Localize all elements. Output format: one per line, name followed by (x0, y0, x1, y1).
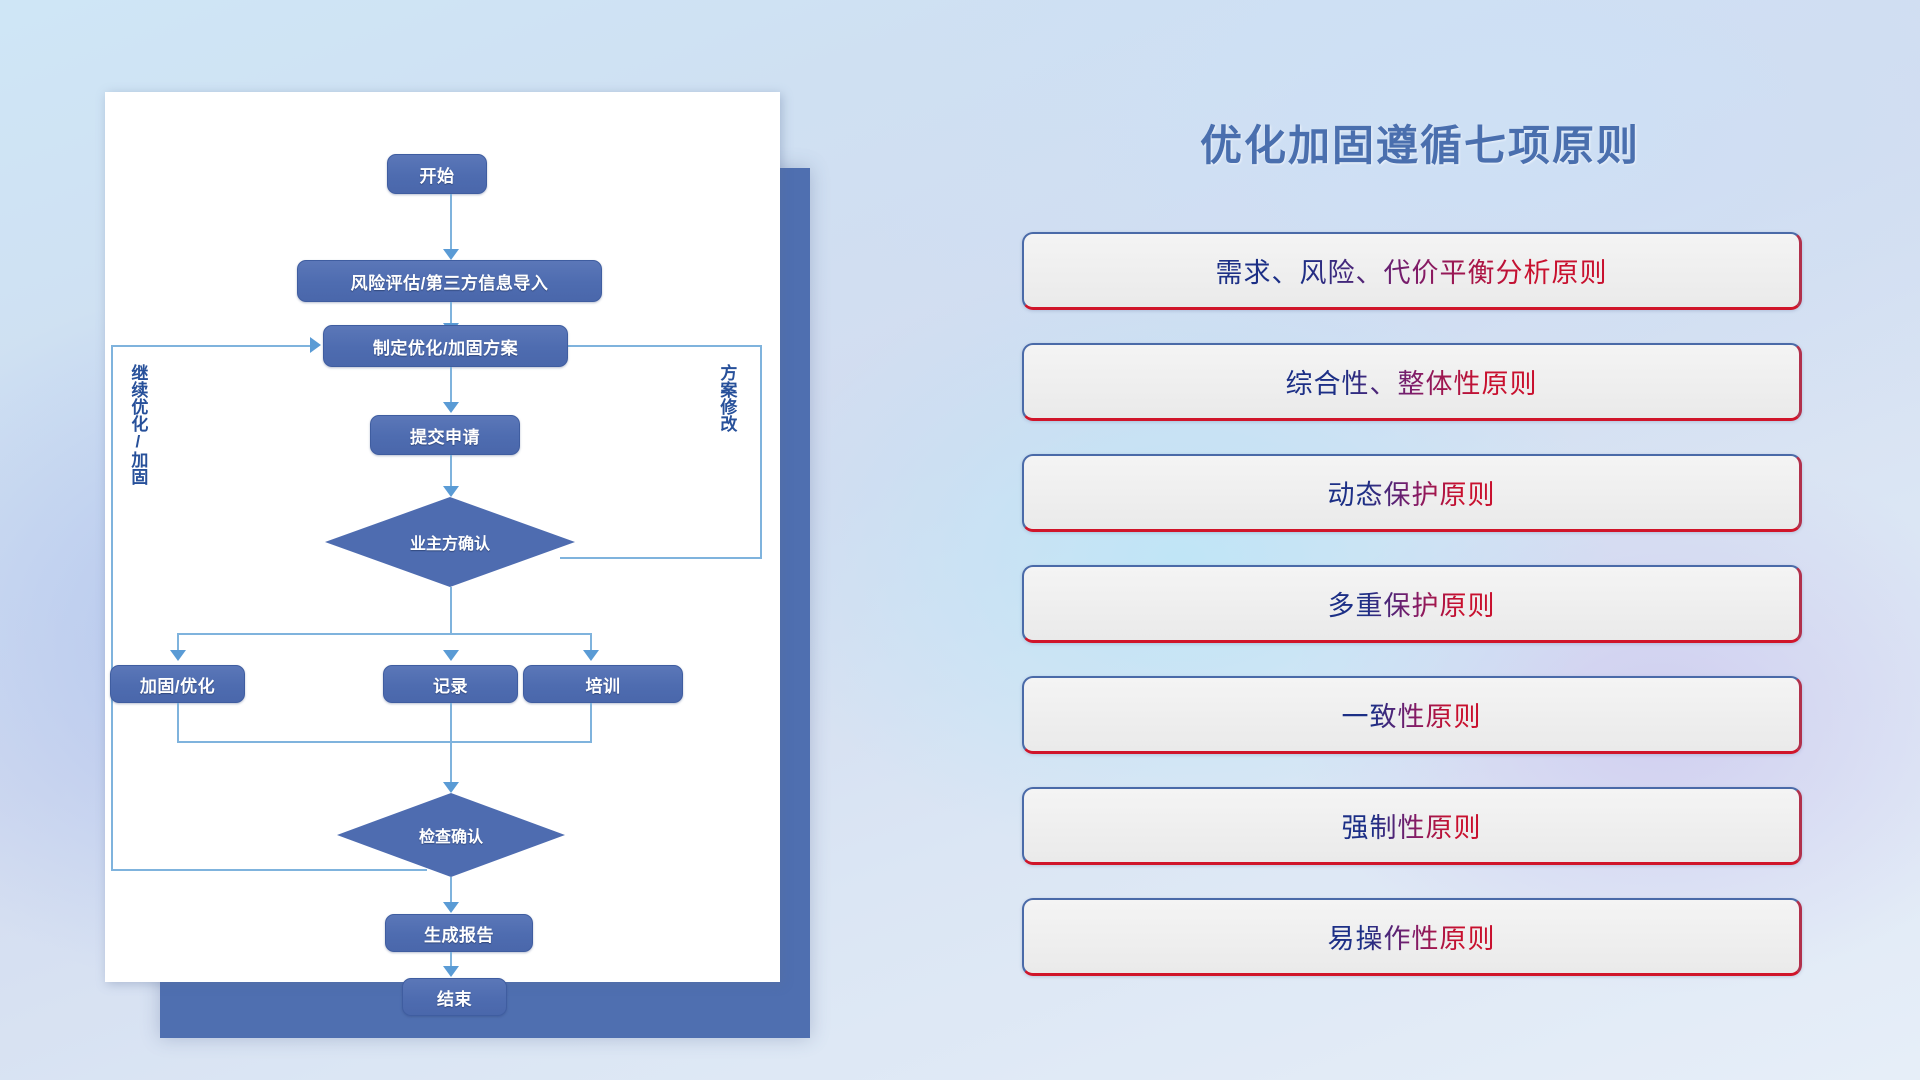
loop-right-top-line (567, 345, 762, 347)
merge-left-rise (177, 703, 179, 743)
node-training[interactable]: 培训 (523, 665, 683, 703)
edge-confirm-down (450, 587, 452, 635)
loop-right-vertical-line (760, 345, 762, 559)
principle-label: 动态保护原则 (1328, 473, 1496, 512)
principle-label: 多重保护原则 (1328, 584, 1496, 623)
node-plan[interactable]: 制定优化/加固方案 (323, 325, 568, 367)
node-risk-assessment[interactable]: 风险评估/第三方信息导入 (297, 260, 602, 302)
edge-label-plan-revision: 方案修改 (718, 364, 735, 432)
loop-left-vertical-line (111, 345, 113, 871)
branch-right-arrow (583, 650, 599, 661)
loop-right-bottom-line (560, 557, 762, 559)
edge-start-arrow (443, 249, 459, 260)
principle-item-5[interactable]: 一致性原则 (1022, 676, 1802, 754)
page-title: 优化加固遵循七项原则 (1020, 112, 1820, 173)
principle-item-7[interactable]: 易操作性原则 (1022, 898, 1802, 976)
edge-submit-arrow (443, 486, 459, 497)
merge-center-arrow (443, 782, 459, 793)
edge-plan-arrow (443, 402, 459, 413)
edge-report-arrow (443, 966, 459, 977)
edge-start-to-risk (450, 194, 452, 254)
principle-label: 易操作性原则 (1328, 917, 1496, 956)
edge-check-arrow (443, 902, 459, 913)
branch-mid-arrow (443, 650, 459, 661)
principle-label: 一致性原则 (1342, 695, 1482, 734)
node-check-confirm[interactable]: 检查确认 (337, 793, 565, 877)
slide-canvas: 开始 风险评估/第三方信息导入 制定优化/加固方案 提交申请 业主方确认 加固/… (0, 0, 1920, 1080)
branch-left-arrow (170, 650, 186, 661)
loop-left-arrow (310, 337, 321, 353)
merge-right-rise (590, 703, 592, 743)
node-end[interactable]: 结束 (402, 978, 507, 1016)
principle-label: 需求、风险、代价平衡分析原则 (1216, 251, 1608, 290)
principle-item-2[interactable]: 综合性、整体性原则 (1022, 343, 1802, 421)
principle-label: 综合性、整体性原则 (1286, 362, 1538, 401)
node-owner-confirm[interactable]: 业主方确认 (325, 497, 575, 587)
flowchart-card: 开始 风险评估/第三方信息导入 制定优化/加固方案 提交申请 业主方确认 加固/… (105, 92, 780, 982)
node-owner-confirm-label: 业主方确认 (410, 530, 490, 554)
node-reinforce[interactable]: 加固/优化 (110, 665, 245, 703)
split-bus-line (177, 633, 592, 635)
edge-label-continue-optimize: 继续优化/加固 (129, 364, 146, 485)
principle-item-3[interactable]: 动态保护原则 (1022, 454, 1802, 532)
node-report[interactable]: 生成报告 (385, 914, 533, 952)
principles-list: 需求、风险、代价平衡分析原则 综合性、整体性原则 动态保护原则 多重保护原则 一… (1022, 232, 1802, 1009)
merge-center-drop (450, 703, 452, 789)
principle-label: 强制性原则 (1342, 806, 1482, 845)
node-record[interactable]: 记录 (383, 665, 518, 703)
node-check-confirm-label: 检查确认 (419, 823, 483, 847)
principle-item-4[interactable]: 多重保护原则 (1022, 565, 1802, 643)
node-start[interactable]: 开始 (387, 154, 487, 194)
principle-item-6[interactable]: 强制性原则 (1022, 787, 1802, 865)
merge-bus-line (177, 741, 592, 743)
node-submit[interactable]: 提交申请 (370, 415, 520, 455)
loop-left-top-line (111, 345, 316, 347)
principle-item-1[interactable]: 需求、风险、代价平衡分析原则 (1022, 232, 1802, 310)
